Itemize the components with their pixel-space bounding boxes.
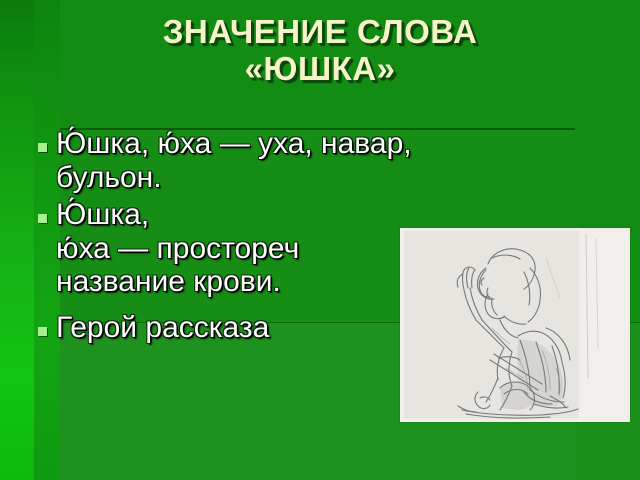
square-bullet-icon bbox=[38, 143, 47, 152]
pencil-sketch-image bbox=[400, 228, 630, 422]
slide-canvas: ЗНАЧЕНИЕ СЛОВА «ЮШКА» Ю́шка, ю́ха — уха,… bbox=[0, 0, 640, 480]
bullet-text: Герой рассказа bbox=[56, 311, 458, 345]
square-bullet-icon bbox=[38, 327, 47, 336]
slide-title: ЗНАЧЕНИЕ СЛОВА «ЮШКА» bbox=[0, 14, 640, 88]
bullet-list: Ю́шка, ю́ха — уха, навар, бульон. Ю́шка,… bbox=[38, 127, 458, 347]
bullet-text: Ю́шка, ю́ха — простореч название крови. bbox=[56, 198, 458, 299]
list-item: Герой рассказа bbox=[38, 311, 458, 345]
square-bullet-icon bbox=[38, 214, 47, 223]
bullet-text: Ю́шка, ю́ха — уха, навар, бульон. bbox=[56, 127, 458, 194]
list-item: Ю́шка, ю́ха — простореч название крови. bbox=[38, 198, 458, 299]
list-item: Ю́шка, ю́ха — уха, навар, бульон. bbox=[38, 127, 458, 194]
